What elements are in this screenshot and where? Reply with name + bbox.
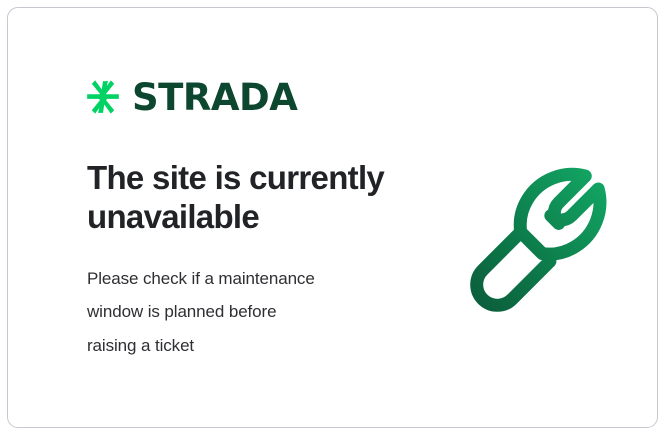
message-block: The site is currently unavailable Please… [87, 159, 417, 362]
strada-asterisk-icon [84, 78, 122, 116]
wrench-icon [460, 154, 635, 329]
status-card: STRADA The site is currently unavailable… [7, 7, 658, 428]
page-description: Please check if a maintenance window is … [87, 262, 417, 361]
description-line: raising a ticket [87, 329, 417, 362]
error-page: STRADA The site is currently unavailable… [0, 0, 666, 436]
description-line: window is planned before [87, 295, 417, 328]
brand-lockup: STRADA [84, 78, 297, 116]
description-line: Please check if a maintenance [87, 262, 417, 295]
page-title: The site is currently unavailable [87, 159, 417, 236]
brand-wordmark: STRADA [132, 79, 297, 116]
